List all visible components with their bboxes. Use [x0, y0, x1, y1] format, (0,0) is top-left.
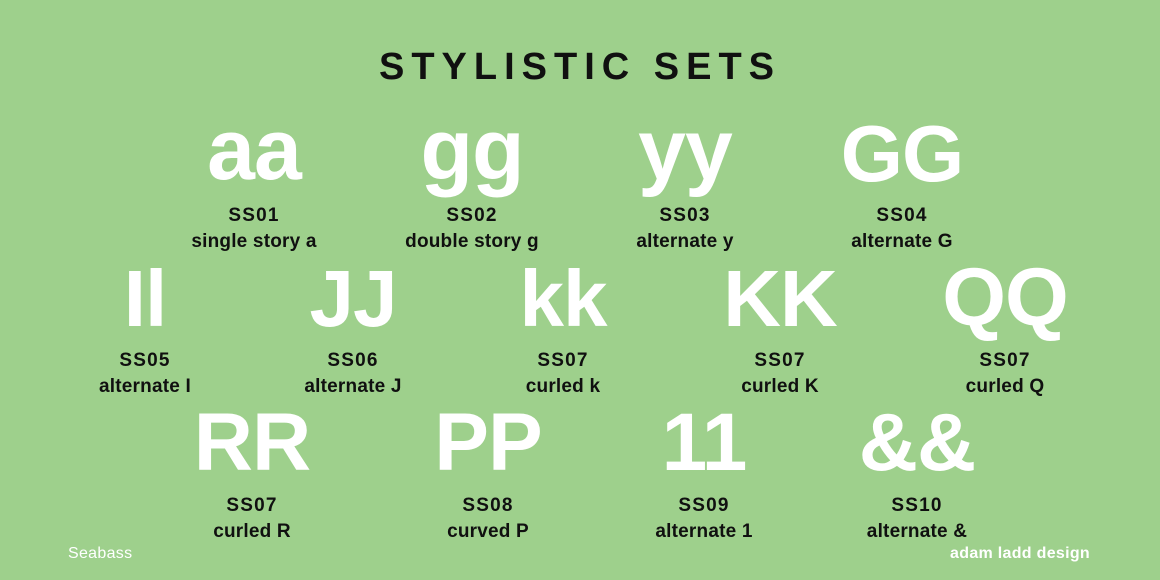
stylistic-set-description: curled K: [741, 376, 819, 399]
stylistic-set-description: double story g: [405, 231, 539, 254]
stylistic-set-row-2: Il SS05 alternate I JJ SS06 alternate J …: [0, 253, 1160, 399]
glyph-sample: &&: [859, 398, 975, 482]
stylistic-set-code: SS04: [876, 206, 927, 227]
stylistic-set-code: SS07: [754, 351, 805, 372]
stylistic-set-item: kk SS07 curled k: [457, 253, 669, 399]
glyph-sample: kk: [520, 253, 607, 337]
stylistic-set-description: alternate G: [851, 231, 952, 254]
stylistic-set-description: alternate 1: [655, 521, 752, 544]
stylistic-set-item: QQ SS07 curled Q: [891, 253, 1119, 399]
stylistic-set-code: SS08: [462, 496, 513, 517]
stylistic-set-code: SS03: [659, 206, 710, 227]
stylistic-set-item: && SS10 alternate &: [805, 398, 1029, 544]
stylistic-set-item: RR SS07 curled R: [131, 398, 373, 544]
glyph-sample: yy: [638, 108, 732, 192]
glyph-sample: RR: [194, 398, 310, 482]
stylistic-set-description: alternate J: [304, 376, 401, 399]
stylistic-set-description: single story a: [191, 231, 316, 254]
stylistic-sets-poster: STYLISTIC SETS aa SS01 single story a gg…: [0, 0, 1160, 580]
stylistic-set-row-3: RR SS07 curled R PP SS08 curved P 11 SS0…: [0, 398, 1160, 544]
stylistic-set-code: SS01: [228, 206, 279, 227]
stylistic-set-description: curved P: [447, 521, 529, 544]
stylistic-set-description: alternate I: [99, 376, 191, 399]
stylistic-set-code: SS05: [119, 351, 170, 372]
stylistic-set-item: yy SS03 alternate y: [581, 108, 789, 254]
stylistic-set-description: alternate &: [867, 521, 967, 544]
stylistic-set-code: SS06: [327, 351, 378, 372]
stylistic-set-code: SS10: [891, 496, 942, 517]
stylistic-set-item: aa SS01 single story a: [145, 108, 363, 254]
glyph-sample: PP: [434, 398, 541, 482]
stylistic-set-row-1: aa SS01 single story a gg SS02 double st…: [0, 108, 1160, 254]
footer-font-name: Seabass: [68, 546, 132, 562]
stylistic-set-code: SS02: [446, 206, 497, 227]
stylistic-set-item: GG SS04 alternate G: [789, 108, 1015, 254]
footer-studio-credit: adam ladd design: [950, 546, 1090, 562]
page-title: STYLISTIC SETS: [0, 48, 1160, 86]
glyph-sample: gg: [420, 108, 523, 192]
glyph-sample: JJ: [310, 253, 397, 337]
stylistic-set-item: gg SS02 double story g: [363, 108, 581, 254]
glyph-sample: KK: [723, 253, 837, 337]
glyph-sample: 11: [662, 398, 747, 482]
glyph-sample: GG: [841, 108, 963, 192]
stylistic-set-item: Il SS05 alternate I: [41, 253, 249, 399]
stylistic-set-item: JJ SS06 alternate J: [249, 253, 457, 399]
stylistic-set-code: SS07: [226, 496, 277, 517]
glyph-sample: aa: [207, 108, 301, 192]
stylistic-set-code: SS07: [537, 351, 588, 372]
glyph-sample: QQ: [942, 253, 1068, 337]
stylistic-set-item: 11 SS09 alternate 1: [603, 398, 805, 544]
stylistic-set-code: SS09: [678, 496, 729, 517]
glyph-sample: Il: [124, 253, 166, 337]
stylistic-set-item: KK SS07 curled K: [669, 253, 891, 399]
stylistic-set-code: SS07: [979, 351, 1030, 372]
stylistic-set-description: curled Q: [966, 376, 1045, 399]
stylistic-set-description: curled k: [526, 376, 600, 399]
stylistic-set-item: PP SS08 curved P: [373, 398, 603, 544]
stylistic-set-description: curled R: [213, 521, 291, 544]
stylistic-set-description: alternate y: [636, 231, 733, 254]
